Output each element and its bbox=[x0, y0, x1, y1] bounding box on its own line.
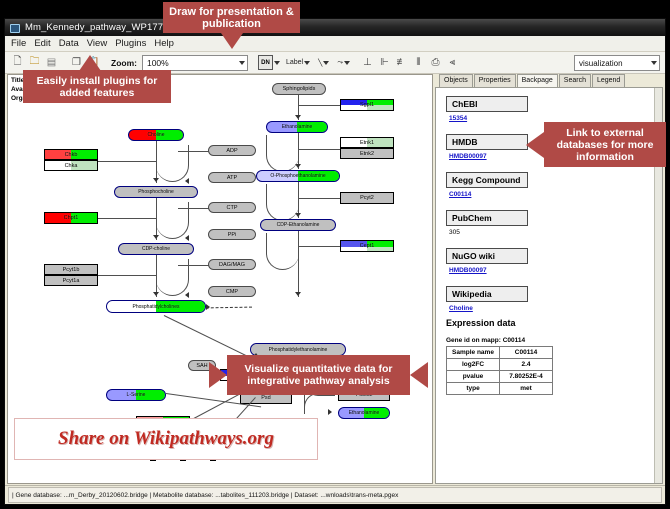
node-label: PPi bbox=[228, 232, 237, 238]
node-atp[interactable]: ATP bbox=[208, 172, 256, 183]
table-row: Sample name C00114 bbox=[447, 347, 553, 359]
db-link-nugo-wiki[interactable]: HMDB00097 bbox=[449, 267, 662, 274]
node-sphingolipids[interactable]: Sphingolipids bbox=[272, 83, 326, 95]
node-label: DAG/MAG bbox=[219, 262, 245, 268]
node-label: Sphingolipids bbox=[283, 86, 316, 92]
datanode-dropdown[interactable]: DN bbox=[258, 55, 280, 70]
screenshot-root: Mm_Kennedy_pathway_WP1771_45176.gpml Fil… bbox=[0, 0, 670, 509]
tab-search[interactable]: Search bbox=[559, 74, 591, 87]
node-label: Ethanolamine bbox=[282, 124, 313, 130]
branch-curve bbox=[266, 233, 299, 270]
menu-item-edit[interactable]: Edit bbox=[34, 38, 50, 49]
arrow-icon bbox=[153, 292, 159, 296]
table-cell-value: 2.4 bbox=[500, 359, 553, 371]
menu-item-view[interactable]: View bbox=[87, 38, 107, 49]
node-label: CDP-Ethanolamine bbox=[277, 222, 320, 228]
arrow-icon bbox=[153, 235, 159, 239]
title-bar: Mm_Kennedy_pathway_WP1771_45176.gpml bbox=[5, 19, 665, 36]
db-link-chebi[interactable]: 15354 bbox=[449, 115, 662, 122]
node-phosphatidylcholines[interactable]: Phosphatidylcholines bbox=[106, 300, 206, 313]
gene-label: Chpt1 bbox=[64, 215, 79, 221]
expression-data-heading: Expression data bbox=[446, 318, 662, 328]
open-folder-icon[interactable]: 🗀 bbox=[27, 55, 42, 70]
print-icon[interactable]: ⎙ bbox=[428, 55, 443, 70]
db-header-nugo-wiki: NuGO wiki bbox=[446, 248, 528, 264]
gene-label: Etnk1 bbox=[360, 140, 374, 146]
gene-id-line: Gene id on mapp: C00114 bbox=[446, 337, 662, 344]
group-icon[interactable]: ⊩ bbox=[377, 55, 392, 70]
tab-legend[interactable]: Legend bbox=[592, 74, 625, 87]
callout-text: Visualize quantitative data for integrat… bbox=[227, 363, 410, 387]
node-ctp[interactable]: CTP bbox=[208, 202, 256, 213]
gene-box-pcyt1a[interactable]: Pcyt1a bbox=[44, 275, 98, 286]
node-label: Ethanolamine bbox=[349, 410, 380, 416]
gene-box-etnk1[interactable]: Etnk1 bbox=[340, 137, 394, 148]
edge-ptdss1-curve bbox=[190, 392, 243, 421]
db-header-wikipedia: Wikipedia bbox=[446, 286, 528, 302]
table-row: pvalue 7.80252E-4 bbox=[447, 371, 553, 383]
gene-connector bbox=[298, 198, 340, 199]
node-ethanolamine-bottom[interactable]: Ethanolamine bbox=[338, 407, 390, 419]
node-ppi[interactable]: PPi bbox=[208, 229, 256, 240]
label-tool-label: Label bbox=[286, 59, 303, 66]
gene-connector bbox=[298, 105, 340, 106]
line-icon: ╲ bbox=[318, 59, 322, 67]
gene-box-cept1[interactable]: Cept1 bbox=[340, 240, 394, 252]
db-header-hmdb: HMDB bbox=[446, 134, 528, 150]
gene-label: Pcyt1a bbox=[63, 278, 80, 284]
branch-curve bbox=[266, 135, 299, 172]
branch-line bbox=[178, 151, 210, 152]
side-panel-tabs: Objects Properties Backpage Search Legen… bbox=[435, 74, 663, 87]
node-label: Phosphatidylethanolamine bbox=[269, 347, 328, 353]
distribute-icon[interactable]: ⦀ bbox=[411, 55, 426, 70]
gene-label: Pcyt2 bbox=[360, 195, 374, 201]
gene-connector bbox=[98, 275, 156, 276]
callout-pointer-icon bbox=[79, 55, 101, 71]
gene-box-pcyt2[interactable]: Pcyt2 bbox=[340, 192, 394, 204]
gene-box-chka[interactable]: Chka bbox=[44, 160, 98, 171]
branch-curve bbox=[266, 184, 299, 221]
callout-visualize-quantitative-data: Visualize quantitative data for integrat… bbox=[227, 355, 410, 395]
arrow-icon bbox=[206, 304, 210, 310]
tab-backpage[interactable]: Backpage bbox=[517, 74, 558, 88]
callout-pointer-icon bbox=[209, 362, 227, 388]
tab-properties[interactable]: Properties bbox=[474, 74, 516, 87]
arrow-icon bbox=[328, 409, 332, 415]
table-cell-value: C00114 bbox=[500, 347, 553, 359]
arrow-icon bbox=[153, 178, 159, 182]
zoom-select[interactable]: 100% bbox=[142, 55, 248, 71]
chevron-down-icon bbox=[323, 61, 329, 65]
interaction-icon: ⤳ bbox=[337, 59, 343, 67]
gene-box-chpt1[interactable]: Chpt1 bbox=[44, 212, 98, 224]
node-label: ADP bbox=[226, 148, 237, 154]
expression-table: Sample name C00114 log2FC 2.4 pvalue 7.8… bbox=[446, 346, 553, 395]
callout-text: Share on Wikipathways.org bbox=[58, 428, 274, 450]
node-label: CMP bbox=[226, 289, 238, 295]
gene-label: Etnk2 bbox=[360, 151, 374, 157]
node-label: Phosphocholine bbox=[138, 189, 174, 195]
table-cell-key: pvalue bbox=[447, 371, 500, 383]
db-header-kegg-compound: Kegg Compound bbox=[446, 172, 528, 188]
callout-pointer-icon bbox=[526, 132, 544, 158]
node-label: SAH bbox=[196, 363, 207, 369]
stack-icon[interactable]: ≢ bbox=[394, 55, 409, 70]
db-header-pubchem: PubChem bbox=[446, 210, 528, 226]
branch-line bbox=[178, 265, 210, 266]
align-icon[interactable]: ⊥ bbox=[360, 55, 375, 70]
node-label: Phosphatidylcholines bbox=[133, 304, 180, 310]
line-dropdown[interactable]: ╲ bbox=[318, 59, 329, 67]
visualization-select[interactable]: visualization bbox=[574, 55, 660, 71]
gene-label: Psd bbox=[261, 395, 270, 401]
label-dropdown[interactable]: Label bbox=[286, 59, 310, 66]
table-row: type met bbox=[447, 383, 553, 395]
interaction-dropdown[interactable]: ⤳ bbox=[337, 59, 350, 67]
branch-line bbox=[178, 208, 210, 209]
menu-bar: File Edit Data View Plugins Help bbox=[5, 36, 665, 52]
gene-box-pcyt1b[interactable]: Pcyt1b bbox=[44, 264, 98, 275]
callout-text: Link to external databases for more info… bbox=[544, 127, 666, 163]
table-cell-value: 7.80252E-4 bbox=[500, 371, 553, 383]
db-link-wikipedia[interactable]: Choline bbox=[449, 305, 662, 312]
gene-label: Chkb bbox=[65, 152, 78, 158]
table-cell-key: Sample name bbox=[447, 347, 500, 359]
chevron-down-icon bbox=[651, 61, 657, 65]
callout-link-external-databases: Link to external databases for more info… bbox=[544, 122, 666, 167]
arrow-icon bbox=[295, 292, 301, 296]
gene-label: Pcyt1b bbox=[63, 267, 80, 273]
node-label: O-Phosphoethanolamine bbox=[270, 173, 325, 179]
zoom-value: 100% bbox=[147, 58, 169, 68]
node-label: ATP bbox=[227, 175, 237, 181]
node-adp[interactable]: ADP bbox=[208, 145, 256, 156]
db-link-kegg-compound[interactable]: C00114 bbox=[449, 191, 662, 198]
table-cell-key: log2FC bbox=[447, 359, 500, 371]
gene-label: Cept1 bbox=[360, 243, 375, 249]
node-o-phosphoethanolamine[interactable]: O-Phosphoethanolamine bbox=[256, 170, 340, 182]
arrow-icon bbox=[295, 115, 301, 119]
callout-pointer-icon bbox=[410, 362, 428, 388]
gene-connector bbox=[298, 246, 340, 247]
chevron-down-icon bbox=[344, 61, 350, 65]
chevron-down-icon bbox=[274, 61, 280, 65]
table-cell-value: met bbox=[500, 383, 553, 395]
app-icon bbox=[9, 22, 20, 33]
visualization-value: visualization bbox=[579, 59, 623, 68]
gene-connector bbox=[298, 149, 340, 150]
node-l-serine-left[interactable]: L-Serine bbox=[106, 389, 166, 401]
callout-pointer-icon bbox=[221, 33, 243, 49]
node-ethanolamine[interactable]: Ethanolamine bbox=[266, 121, 328, 133]
tab-objects[interactable]: Objects bbox=[439, 74, 473, 87]
status-bar: | Gene database: ...m_Derby_20120602.bri… bbox=[5, 485, 665, 504]
order-icon[interactable]: ⫷ bbox=[445, 55, 460, 70]
menu-item-file[interactable]: File bbox=[11, 38, 26, 49]
zoom-label: Zoom: bbox=[111, 58, 137, 68]
callout-text: Draw for presentation & publication bbox=[163, 6, 300, 30]
node-label: Choline bbox=[148, 132, 165, 138]
callout-text: Easily install plugins for added feature… bbox=[23, 75, 171, 99]
node-label: CDP-choline bbox=[142, 246, 170, 252]
edge-ptdcholine-to-ptdetn bbox=[206, 307, 252, 309]
db-value-pubchem: 305 bbox=[449, 229, 662, 236]
menu-item-plugins[interactable]: Plugins bbox=[115, 38, 146, 49]
gene-box-etnk2[interactable]: Etnk2 bbox=[340, 148, 394, 159]
table-cell-key: type bbox=[447, 383, 500, 395]
gene-box-chkb[interactable]: Chkb bbox=[44, 149, 98, 160]
gene-label: Chka bbox=[65, 163, 78, 169]
node-choline-top[interactable]: Choline bbox=[128, 129, 184, 141]
node-cmp[interactable]: CMP bbox=[208, 286, 256, 297]
node-label: L-Serine bbox=[127, 392, 146, 398]
arrow-icon bbox=[185, 235, 189, 241]
save-disk-icon[interactable]: ▤ bbox=[44, 55, 59, 70]
callout-easily-install-plugins: Easily install plugins for added feature… bbox=[23, 70, 171, 103]
node-cdp-choline[interactable]: CDP-choline bbox=[118, 243, 194, 255]
new-file-icon[interactable]: 🗋 bbox=[10, 55, 25, 70]
callout-share-wikipathways: Share on Wikipathways.org bbox=[14, 418, 318, 460]
node-dagmag[interactable]: DAG/MAG bbox=[208, 259, 256, 270]
callout-draw-for-presentation: Draw for presentation & publication bbox=[163, 2, 300, 33]
node-label: CTP bbox=[227, 205, 238, 211]
chevron-down-icon bbox=[239, 61, 245, 65]
db-header-chebi: ChEBI bbox=[446, 96, 528, 112]
gene-connector bbox=[98, 218, 156, 219]
arrow-icon bbox=[185, 178, 189, 184]
menu-item-data[interactable]: Data bbox=[59, 38, 79, 49]
arrow-icon bbox=[185, 292, 189, 298]
menu-item-help[interactable]: Help bbox=[154, 38, 174, 49]
status-text: | Gene database: ...m_Derby_20120602.bri… bbox=[8, 487, 662, 503]
gene-label: Sgpl1 bbox=[360, 102, 374, 108]
table-row: log2FC 2.4 bbox=[447, 359, 553, 371]
datanode-icon: DN bbox=[258, 55, 273, 70]
gene-connector bbox=[98, 161, 156, 162]
node-phosphocholine[interactable]: Phosphocholine bbox=[114, 186, 198, 198]
gene-box-sgpl1[interactable]: Sgpl1 bbox=[340, 99, 394, 111]
chevron-down-icon bbox=[304, 61, 310, 65]
node-cdp-ethanolamine[interactable]: CDP-Ethanolamine bbox=[260, 219, 336, 231]
